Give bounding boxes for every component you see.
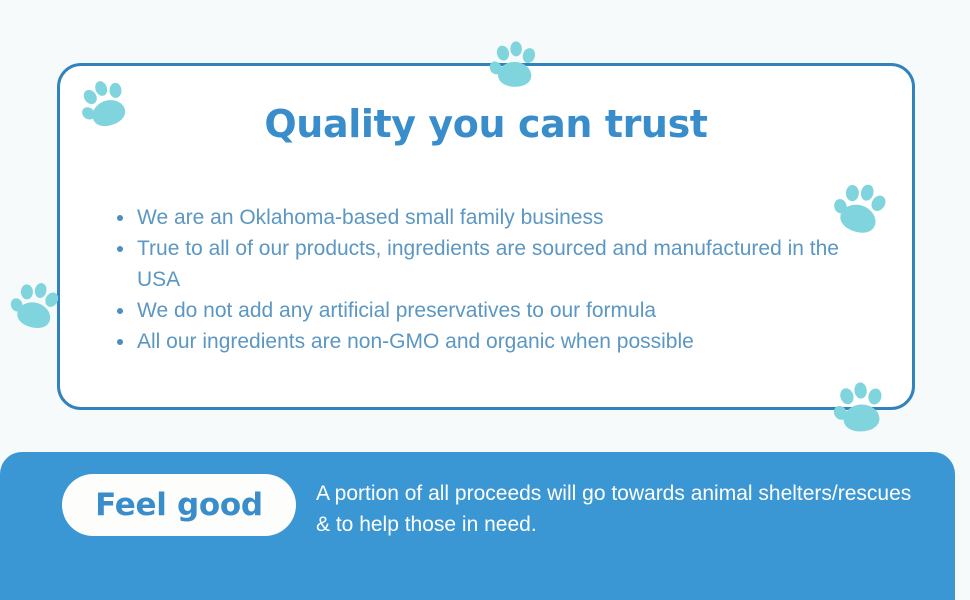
- list-item: True to all of our products, ingredients…: [107, 233, 882, 295]
- bullet-dot-icon: [117, 339, 123, 345]
- feel-good-banner: Feel good A portion of all proceeds will…: [0, 452, 955, 600]
- feel-good-pill-label: Feel good: [95, 487, 263, 523]
- feel-good-pill: Feel good: [62, 474, 296, 536]
- list-item-label: We are an Oklahoma-based small family bu…: [137, 206, 603, 229]
- list-item: All our ingredients are non-GMO and orga…: [107, 326, 882, 357]
- list-item-label: True to all of our products, ingredients…: [137, 237, 839, 291]
- bullet-dot-icon: [117, 215, 123, 221]
- list-item: We do not add any artificial preservativ…: [107, 295, 882, 326]
- bullet-dot-icon: [117, 246, 123, 252]
- banner-description: A portion of all proceeds will go toward…: [316, 478, 916, 540]
- quality-trust-card: Quality you can trust We are an Oklahoma…: [57, 63, 915, 410]
- infographic-stage: Quality you can trust We are an Oklahoma…: [0, 0, 970, 600]
- bullet-dot-icon: [117, 308, 123, 314]
- list-item-label: All our ingredients are non-GMO and orga…: [137, 330, 694, 353]
- page-title: Quality you can trust: [60, 102, 912, 146]
- list-item: We are an Oklahoma-based small family bu…: [107, 202, 882, 233]
- list-item-label: We do not add any artificial preservativ…: [137, 299, 656, 322]
- quality-bullet-list: We are an Oklahoma-based small family bu…: [107, 202, 882, 357]
